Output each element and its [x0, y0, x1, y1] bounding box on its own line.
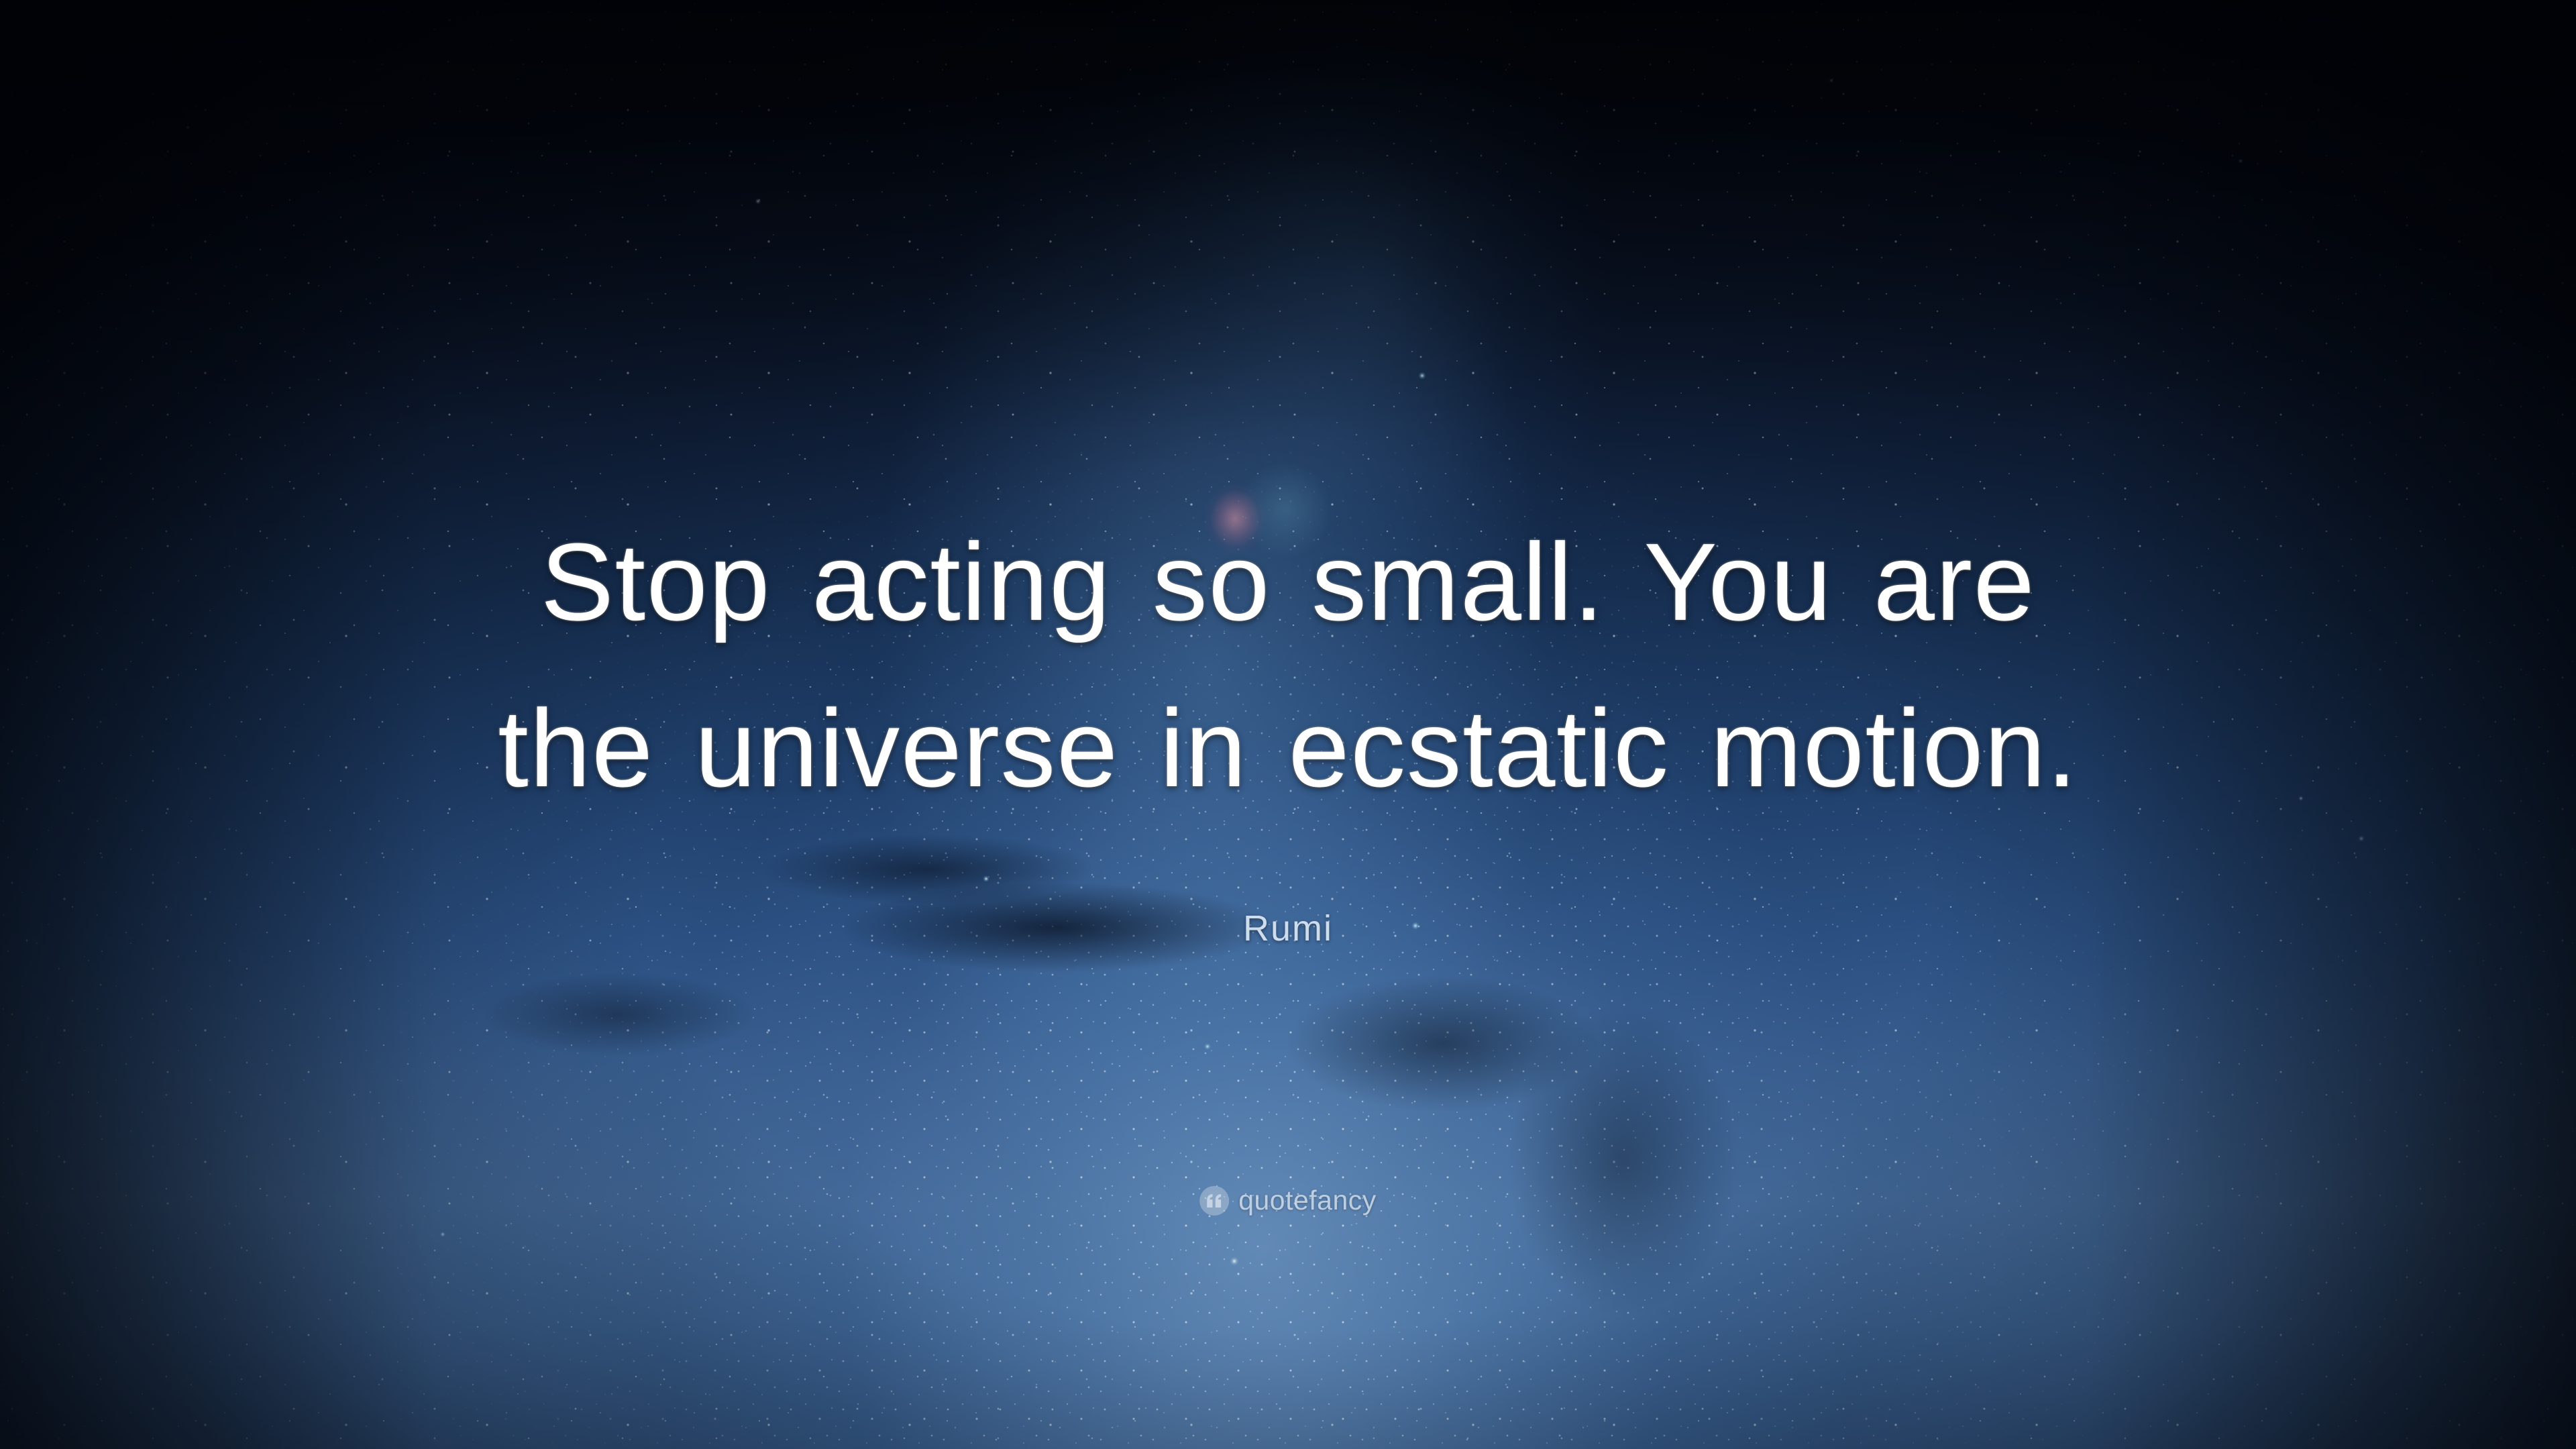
- double-quote-icon: [1199, 1186, 1229, 1216]
- wallpaper-canvas: Stop acting so small. You are the univer…: [0, 0, 2576, 1449]
- quote-content: Stop acting so small. You are the univer…: [0, 0, 2576, 1449]
- quotefancy-watermark[interactable]: quotefancy: [1199, 1185, 1377, 1216]
- quote-body: Stop acting so small. You are the univer…: [376, 499, 2200, 832]
- quote-author: Rumi: [1243, 908, 1333, 949]
- quotefancy-label: quotefancy: [1238, 1185, 1377, 1216]
